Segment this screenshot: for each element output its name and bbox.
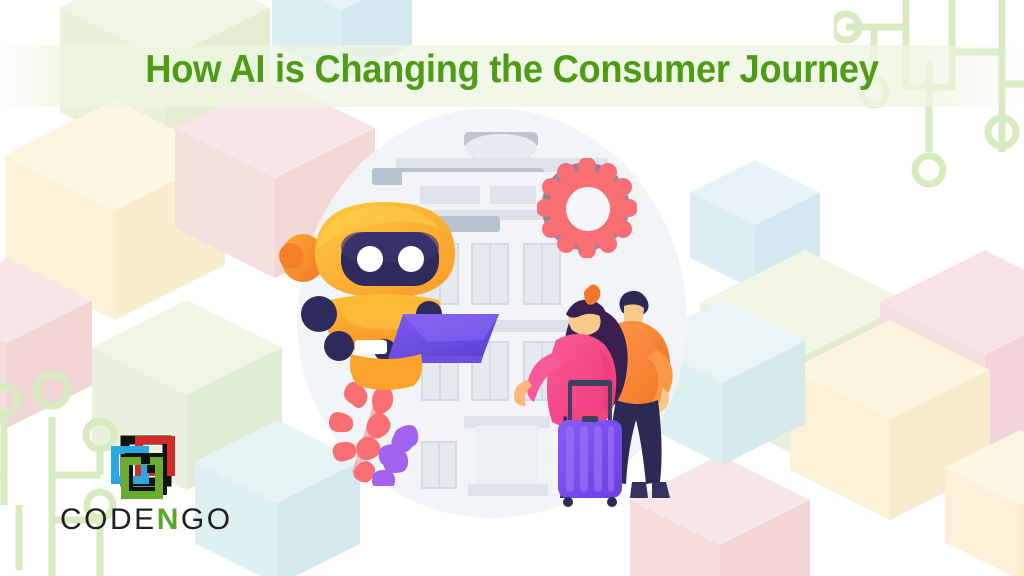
logo-word-prefix: CODE [60,503,157,536]
cube-cream-left [5,100,225,320]
cube-pink-far-left [0,258,92,428]
page-title: How AI is Changing the Consumer Journey [36,48,988,92]
cube-mint-right [700,250,910,460]
plant-icon [324,374,434,486]
codengo-logo[interactable]: CODENGO [60,435,260,540]
cube-cream-right [790,320,990,520]
robot-assistant-icon [277,190,507,390]
blog-banner: How AI is Changing the Consumer Journey [0,0,1024,576]
cube-cream-far-right [945,430,1024,576]
logo-word-accent: N [157,503,181,536]
cube-pink-right [880,250,1024,460]
hero-illustration [272,96,712,536]
codengo-logo-mark-icon [105,435,185,503]
travelers-group-icon [512,276,692,511]
codengo-wordmark: CODENGO [60,503,260,537]
logo-word-suffix: GO [181,503,233,536]
gear-icon [537,158,637,258]
